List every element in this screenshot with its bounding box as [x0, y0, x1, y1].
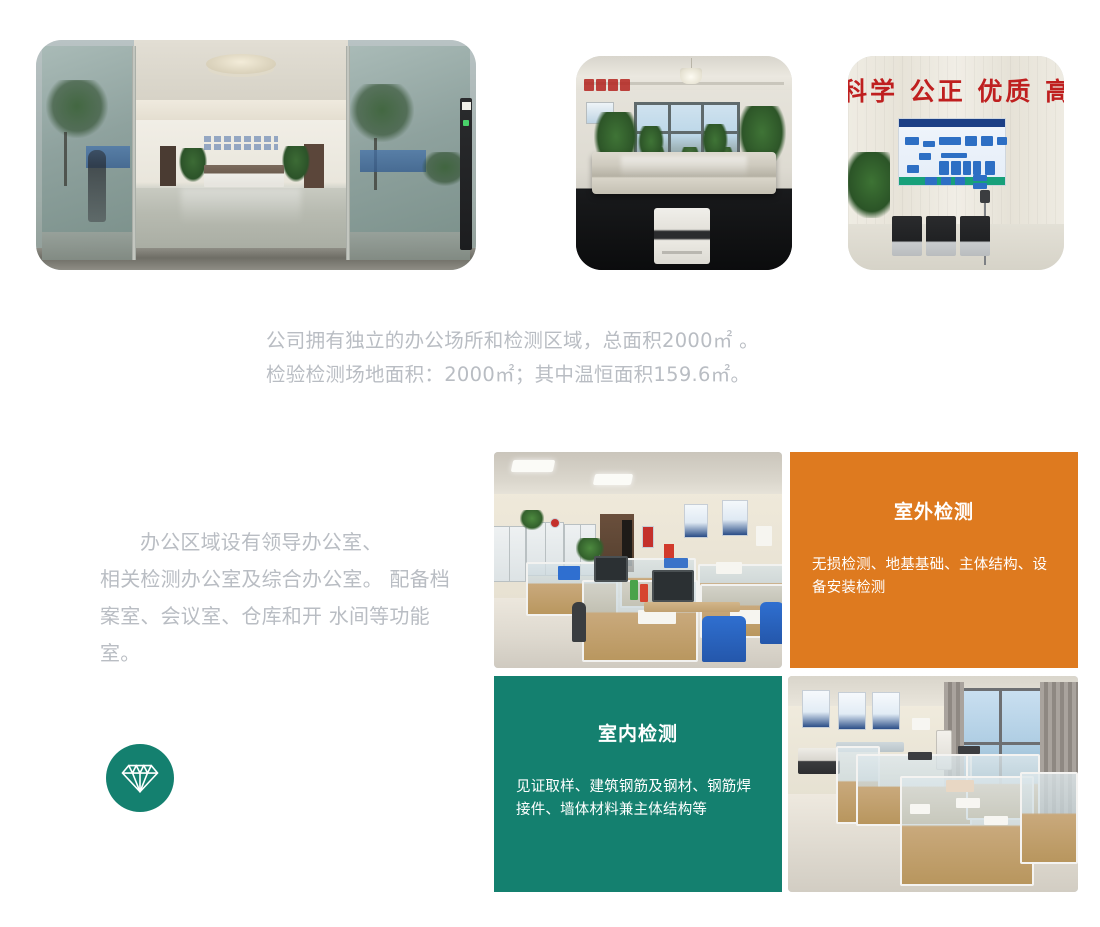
glass-panel-left — [42, 46, 134, 260]
wall-poster — [684, 504, 708, 538]
card-indoor-testing[interactable]: 室内检测 见证取样、建筑钢筋及钢材、钢筋焊接件、墙体材料兼主体结构等 — [494, 676, 782, 892]
red-flag-icon — [664, 544, 674, 558]
monitor-icon — [908, 752, 932, 760]
photo-slogan-wall-content: 科学 公正 优质 高效 — [848, 56, 1064, 270]
printer-icon — [798, 748, 840, 774]
status-led-icon — [463, 120, 469, 126]
fire-notice — [642, 526, 654, 548]
photo-meeting-room — [576, 56, 792, 270]
workflow-box — [951, 161, 961, 175]
workflow-box — [973, 161, 981, 175]
workflow-chart-poster — [898, 118, 1006, 186]
card-outdoor-testing[interactable]: 室外检测 无损检测、地基基础、主体结构、设备安装检测 — [790, 452, 1078, 668]
waiting-chair — [960, 216, 990, 256]
ceiling-light — [593, 474, 633, 485]
office-plant — [520, 510, 544, 530]
slogan-wall-plant — [848, 152, 890, 218]
workflow-box — [997, 137, 1007, 145]
workflow-box — [965, 136, 977, 146]
photo-open-office-content — [494, 452, 782, 668]
reflected-building — [360, 150, 426, 172]
workflow-box — [985, 161, 995, 175]
cubicle-partition — [1020, 772, 1078, 864]
photo-cubicle-office — [788, 676, 1078, 892]
monitor-icon — [594, 556, 628, 582]
desk-papers — [984, 816, 1008, 825]
workflow-box — [963, 161, 971, 175]
desk-papers — [638, 610, 676, 624]
blue-folder — [558, 566, 580, 580]
workflow-box — [973, 183, 987, 189]
office-chair — [702, 616, 746, 662]
wall-sensor-icon — [980, 190, 990, 203]
wall-slogan-text: 科学 公正 优质 高效 — [848, 72, 1064, 108]
printer-icon — [654, 208, 710, 264]
pendant-lamp-icon — [680, 68, 702, 84]
office-line-1: 办公区域设有领导办公室、 — [100, 524, 470, 561]
storage-cabinet — [494, 526, 526, 582]
reflected-tree — [46, 80, 108, 138]
workflow-box — [941, 177, 951, 185]
wall-notice — [912, 718, 930, 730]
card-outdoor-title: 室外检测 — [812, 497, 1056, 524]
reflected-person — [88, 150, 106, 222]
office-chair — [760, 602, 782, 644]
blue-folder — [664, 558, 688, 568]
desk-papers — [956, 798, 980, 808]
workflow-box — [939, 137, 961, 145]
office-ceiling — [494, 452, 782, 494]
workflow-box — [923, 141, 935, 147]
wall-poster — [722, 500, 748, 536]
access-control-panel — [460, 98, 472, 250]
slogan-wall-floor — [848, 224, 1064, 270]
office-chair — [572, 602, 586, 642]
workflow-box — [955, 177, 965, 185]
lobby-plant-left — [179, 148, 207, 182]
lobby-door-left — [160, 146, 176, 186]
office-description-block: 办公区域设有领导办公室、 相关检测办公室及综合办公室。 配备档案室、会议室、仓库… — [100, 524, 470, 672]
workflow-box — [905, 137, 919, 145]
desk-papers — [946, 780, 974, 792]
banner-char — [584, 79, 594, 91]
diamond-icon — [120, 758, 160, 798]
conference-table — [592, 152, 776, 194]
door-frame-left — [132, 46, 136, 260]
photo-lobby — [36, 40, 476, 270]
cubicle-partition — [900, 776, 1034, 886]
photo-slogan-wall: 科学 公正 优质 高效 — [848, 56, 1064, 270]
card-indoor-title: 室内检测 — [516, 719, 760, 746]
workflow-box — [907, 165, 919, 173]
intro-text-block: 公司拥有独立的办公场所和检测区域，总面积2000㎡ 。 检验检测场地面积：200… — [266, 324, 886, 392]
wall-certificate — [838, 692, 866, 730]
diamond-badge — [106, 744, 174, 812]
workflow-box — [919, 153, 931, 160]
intro-line-1: 公司拥有独立的办公场所和检测区域，总面积2000㎡ 。 — [266, 324, 886, 358]
banner-char — [596, 79, 606, 91]
bottle-icon — [630, 580, 638, 600]
meeting-red-banner — [584, 78, 636, 94]
door-frame-right — [346, 46, 350, 260]
lobby-wall-sign — [204, 136, 278, 150]
office-line-2: 相关检测办公室及综合办公室。 — [100, 567, 383, 591]
lobby-floor — [134, 188, 348, 250]
bottle-icon — [640, 584, 648, 602]
banner-char — [608, 79, 618, 91]
workflow-boxes — [903, 131, 1001, 177]
monitor-icon — [958, 746, 980, 754]
desk-papers — [716, 562, 742, 574]
photo-cubicle-office-content — [788, 676, 1078, 892]
desk-surface — [644, 602, 740, 612]
ceiling-light — [511, 460, 556, 472]
banner-char — [620, 79, 630, 91]
glass-panel-right — [348, 46, 470, 260]
reflected-trunk — [64, 132, 67, 186]
reflected-tree — [350, 84, 414, 142]
reflected-road — [42, 232, 134, 260]
card-indoor-body: 见证取样、建筑钢筋及钢材、钢筋焊接件、墙体材料兼主体结构等 — [516, 776, 760, 822]
panel-label — [462, 102, 471, 110]
photo-meeting-room-content — [576, 56, 792, 270]
reflected-road — [348, 232, 470, 260]
waiting-chair — [926, 216, 956, 256]
desk-papers — [910, 804, 930, 814]
photo-lobby-content — [36, 40, 476, 270]
lobby-upper-wall — [134, 100, 348, 122]
workflow-box — [925, 177, 937, 185]
card-outdoor-body: 无损检测、地基基础、主体结构、设备安装检测 — [812, 554, 1056, 600]
photo-open-office — [494, 452, 782, 668]
wall-notice — [756, 526, 772, 546]
chandelier-icon — [206, 54, 276, 74]
lobby-plant-right — [282, 146, 310, 182]
workflow-box — [973, 175, 987, 181]
red-helmet — [550, 518, 560, 528]
wall-certificate — [802, 690, 830, 728]
page-root: 科学 公正 优质 高效 — [0, 0, 1100, 927]
wall-certificate — [872, 692, 900, 730]
monitor-icon — [652, 570, 694, 602]
intro-line-2: 检验检测场地面积：2000㎡；其中温恒面积159.6㎡。 — [266, 358, 886, 392]
workflow-box — [941, 153, 967, 158]
workflow-box — [981, 136, 993, 146]
waiting-chair — [892, 216, 922, 256]
reception-desk — [204, 165, 284, 187]
workflow-box — [939, 161, 949, 175]
